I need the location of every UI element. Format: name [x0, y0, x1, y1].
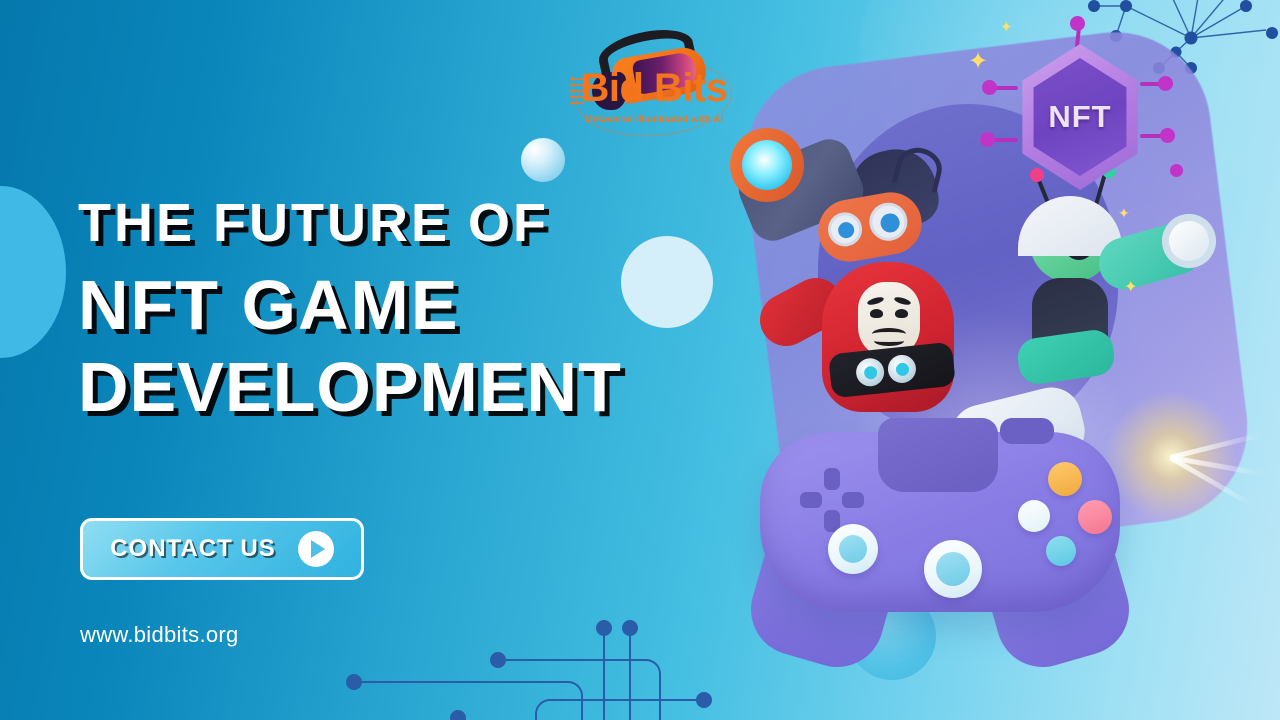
controller-dpad [800, 468, 864, 532]
logo-tagline: Metaverse Illuminated with AI [566, 114, 742, 125]
controller-button-orange [1048, 462, 1082, 496]
controller-shoulder-button [1000, 418, 1054, 444]
contact-us-button[interactable]: CONTACT US [80, 518, 364, 580]
badge-node-right-bottom [1170, 164, 1183, 177]
robot-goggle-right [866, 200, 910, 244]
controller-analog-stick-right [924, 540, 982, 598]
visor-pupil-right [895, 362, 909, 376]
badge-node-right-upper [1158, 76, 1173, 91]
sparkle-icon-1: ✦ [968, 50, 988, 74]
left-accent-circle [0, 186, 66, 358]
sparkle-icon-2: ✦ [1000, 20, 1013, 35]
contact-us-label: CONTACT US [110, 535, 276, 563]
promotional-banner: NFT ✦ ✦ ✦ ✦ [0, 0, 1280, 720]
headline-line-3: DEVELOPMENT [78, 352, 758, 422]
visor-eye-left [855, 357, 886, 388]
mask-brow-right [894, 296, 912, 306]
nft-badge: NFT [1010, 42, 1150, 192]
badge-node-stem-left-2 [994, 138, 1018, 142]
visor-pupil-left [864, 366, 878, 380]
controller-button-pink [1078, 500, 1112, 534]
dpad-left [800, 492, 822, 508]
blaster-energy-core [742, 140, 792, 190]
robot-goggle-left [825, 210, 864, 249]
controller-analog-stick-left [828, 524, 878, 574]
robot-lens-right [879, 212, 901, 234]
website-url[interactable]: www.bidbits.org [80, 622, 239, 648]
dpad-right [842, 492, 864, 508]
badge-node-left-lower [980, 132, 995, 147]
dpad-up [824, 468, 840, 490]
nft-badge-label: NFT [1010, 99, 1150, 135]
sparkle-icon-4: ✦ [1124, 280, 1137, 296]
brand-logo[interactable]: Bid Bits Metaverse Illuminated with AI [566, 24, 742, 140]
visor-eye-right [887, 354, 918, 385]
game-artwork: NFT ✦ ✦ ✦ ✦ [700, 0, 1280, 720]
headline-block: THE FUTURE OF NFT GAME DEVELOPMENT [78, 196, 758, 422]
sparkle-icon-3: ✦ [1118, 206, 1130, 220]
controller-button-white [1018, 500, 1050, 532]
badge-node-left-upper [982, 80, 997, 95]
controller-touchpad [878, 418, 998, 492]
mask-smile [874, 336, 904, 346]
mask-eye-right [895, 309, 908, 318]
headline-line-2: NFT GAME [78, 270, 758, 340]
logo-wordmark: Bid Bits [566, 68, 742, 108]
badge-node-right-lower [1160, 128, 1175, 143]
badge-node-stem-left [994, 86, 1018, 90]
game-controller-graphic [760, 412, 1120, 662]
mask-brow-left [867, 296, 885, 306]
headline-line-1: THE FUTURE OF [78, 196, 758, 250]
controller-button-teal [1046, 536, 1076, 566]
badge-node-top [1070, 16, 1085, 31]
small-gradient-sphere [521, 138, 565, 182]
robot-lens-left [837, 221, 856, 240]
mask-eye-left [870, 309, 883, 318]
circuit-trace-graphic [330, 610, 750, 720]
play-circle-icon[interactable] [298, 531, 334, 567]
